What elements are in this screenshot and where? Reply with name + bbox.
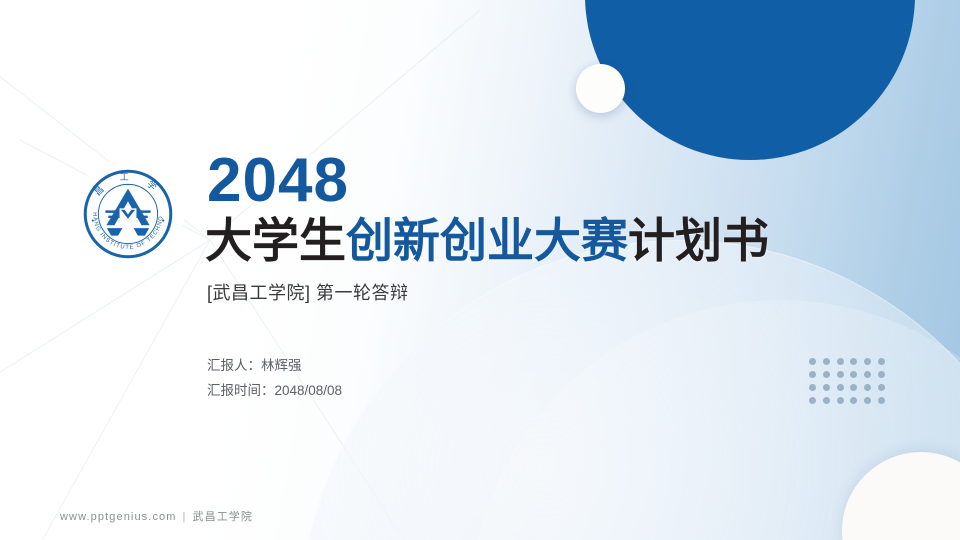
page-title-part-1: 大学生: [205, 214, 346, 267]
title-content-block: 2048 大学生创新创业大赛计划书 [武昌工学院] 第一轮答辩 汇报人：林辉强 …: [205, 150, 845, 404]
footer-separator: |: [183, 511, 187, 523]
page-title-part-2: 创新创业大赛: [346, 214, 628, 267]
university-emblem-icon: 武 昌 工 学 院 WUCHANG INSTITUTE OF TECHNOLOG…: [81, 167, 175, 261]
decorative-white-dot-small: [576, 64, 625, 113]
decorative-white-circle-large: [842, 452, 960, 540]
decorative-blue-circle: [585, 0, 915, 160]
report-date-line: 汇报时间：2048/08/08: [207, 379, 845, 404]
presentation-title-slide: 武 昌 工 学 院 WUCHANG INSTITUTE OF TECHNOLOG…: [0, 0, 960, 540]
page-title: 大学生创新创业大赛计划书: [205, 216, 845, 265]
university-logo: 武 昌 工 学 院 WUCHANG INSTITUTE OF TECHNOLOG…: [72, 158, 184, 270]
footer-organization: 武昌工学院: [193, 511, 254, 523]
footer: www.pptgenius.com|武昌工学院: [60, 508, 253, 524]
footer-website: www.pptgenius.com: [60, 511, 177, 523]
year-heading: 2048: [207, 150, 845, 212]
subtitle: [武昌工学院] 第一轮答辩: [207, 279, 845, 305]
page-title-part-3: 计划书: [628, 214, 769, 267]
presentation-meta: 汇报人：林辉强 汇报时间：2048/08/08: [207, 354, 845, 404]
presenter-line: 汇报人：林辉强: [207, 354, 845, 379]
